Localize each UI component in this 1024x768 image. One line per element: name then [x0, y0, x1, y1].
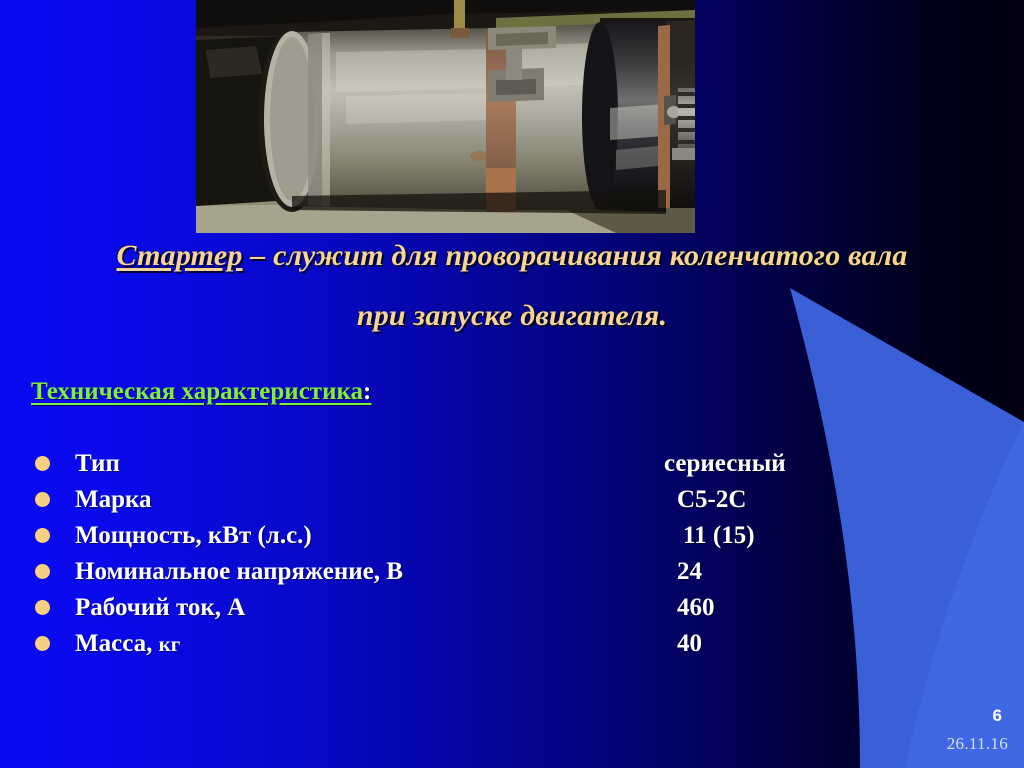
bullet-icon	[35, 564, 50, 579]
spec-value: сериесный	[664, 446, 786, 482]
bullet-icon	[35, 492, 50, 507]
spec-label: Мощность, кВт (л.с.)	[75, 518, 312, 554]
list-item: Масса, кг 40	[0, 626, 1024, 662]
list-item: Марка С5-2С	[0, 482, 1024, 518]
section-heading-text: Техническая характеристика	[31, 378, 363, 405]
list-item: Мощность, кВт (л.с.) 11 (15)	[0, 518, 1024, 554]
spec-label-text: Масса,	[75, 630, 159, 657]
svg-text:6 2.: 6 2.	[408, 53, 433, 68]
bullet-icon	[35, 600, 50, 615]
spec-value: С5-2С	[677, 482, 746, 518]
spec-label-unit: кг	[159, 632, 181, 656]
list-item: Рабочий ток, А 460	[0, 590, 1024, 626]
spec-value: 460	[677, 590, 715, 626]
section-heading: Техническая характеристика:	[31, 378, 371, 406]
spec-label: Марка	[75, 482, 152, 518]
spec-label: Масса, кг	[75, 626, 180, 662]
list-item: Тип сериесный	[0, 446, 1024, 482]
title-line-2: при запуске двигателя.	[0, 300, 1024, 332]
spec-value: 11 (15)	[683, 518, 755, 554]
spec-label: Рабочий ток, А	[75, 590, 245, 626]
title-keyword: Стартер	[117, 239, 243, 272]
presentation-slide: 6 2.	[0, 0, 1024, 768]
slide-date: 26.11.16	[947, 734, 1008, 754]
title-line-1-rest: – служит для проворачивания коленчатого …	[243, 239, 908, 272]
bullet-icon	[35, 456, 50, 471]
title-line-1: Стартер – служит для проворачивания коле…	[0, 240, 1024, 272]
spec-value: 24	[677, 554, 702, 590]
bullet-icon	[35, 636, 50, 651]
spec-label: Номинальное напряжение, В	[75, 554, 403, 590]
bullet-icon	[35, 528, 50, 543]
slide-number: 6	[993, 706, 1002, 726]
starter-motor-photo: 6 2.	[196, 0, 695, 233]
slide-title: Стартер – служит для проворачивания коле…	[0, 240, 1024, 331]
spec-value: 40	[677, 626, 702, 662]
list-item: Номинальное напряжение, В 24	[0, 554, 1024, 590]
specification-list: Тип сериесный Марка С5-2С Мощность, кВт …	[0, 446, 1024, 662]
section-heading-colon: :	[363, 378, 371, 405]
spec-label: Тип	[75, 446, 120, 482]
